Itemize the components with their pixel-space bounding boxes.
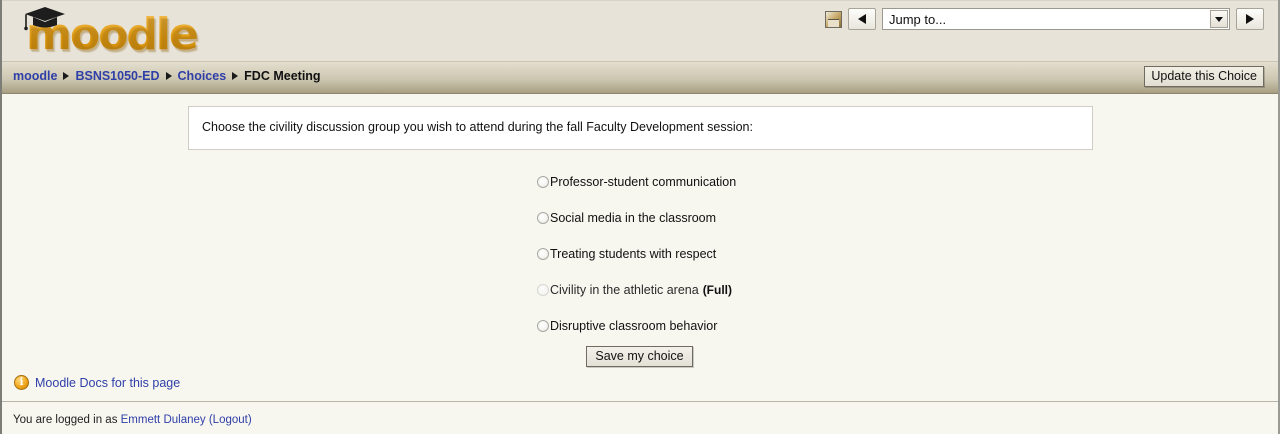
moodle-page: moodle Jump to... (0, 0, 1280, 434)
choice-options-list: Professor-student communication Social m… (2, 164, 1278, 367)
login-prefix: You are logged in as (13, 414, 121, 426)
login-status: You are logged in as Emmett Dulaney (Log… (13, 414, 252, 426)
option-label-2[interactable]: Social media in the classroom (550, 211, 716, 225)
choice-option-row: Civility in the athletic arena (Full) (2, 272, 1278, 308)
moodle-docs-link[interactable]: Moodle Docs for this page (35, 376, 180, 390)
page-header: moodle Jump to... (2, 0, 1278, 62)
chevron-left-icon (858, 14, 866, 24)
jump-to-value: Jump to... (883, 12, 946, 27)
chevron-down-icon (1215, 17, 1223, 22)
header-tools: Jump to... (825, 8, 1264, 30)
choice-option-row[interactable]: Disruptive classroom behavior (2, 308, 1278, 344)
navigation-bar: moodle BSNS1050-ED Choices FDC Meeting U… (2, 62, 1278, 94)
moodle-docs-link-row[interactable]: i Moodle Docs for this page (14, 375, 180, 390)
save-my-choice-button[interactable]: Save my choice (586, 346, 692, 367)
option-full-badge: (Full) (703, 283, 732, 297)
breadcrumb-separator-icon (232, 72, 238, 80)
radio-option-5[interactable] (537, 320, 549, 332)
window-frame-icon[interactable] (825, 11, 842, 28)
breadcrumb: moodle BSNS1050-ED Choices FDC Meeting (13, 69, 321, 83)
info-icon: i (14, 375, 29, 390)
user-profile-link[interactable]: Emmett Dulaney (121, 414, 206, 426)
breadcrumb-separator-icon (63, 72, 69, 80)
next-activity-button[interactable] (1236, 8, 1264, 30)
option-label-4: Civility in the athletic arena (550, 283, 699, 297)
choice-option-row[interactable]: Treating students with respect (2, 236, 1278, 272)
choice-intro-text: Choose the civility discussion group you… (189, 107, 1092, 134)
breadcrumb-separator-icon (166, 72, 172, 80)
choice-option-row[interactable]: Social media in the classroom (2, 200, 1278, 236)
breadcrumb-item-moodle[interactable]: moodle (13, 69, 57, 83)
main-content: Choose the civility discussion group you… (2, 94, 1278, 394)
previous-activity-button[interactable] (848, 8, 876, 30)
save-choice-row: Save my choice (2, 346, 1278, 367)
moodle-logo[interactable]: moodle (12, 3, 212, 59)
breadcrumb-item-course[interactable]: BSNS1050-ED (75, 69, 159, 83)
radio-option-2[interactable] (537, 212, 549, 224)
option-label-1[interactable]: Professor-student communication (550, 175, 736, 189)
breadcrumb-item-choices[interactable]: Choices (178, 69, 227, 83)
jump-to-dropdown-button[interactable] (1210, 10, 1228, 28)
logout-link[interactable]: (Logout) (206, 414, 252, 426)
update-this-choice-button[interactable]: Update this Choice (1144, 66, 1264, 87)
chevron-right-icon (1246, 14, 1254, 24)
moodle-logo-text: moodle (26, 9, 197, 60)
jump-to-select[interactable]: Jump to... (882, 8, 1230, 30)
footer-divider (2, 401, 1278, 402)
radio-option-3[interactable] (537, 248, 549, 260)
choice-intro-box: Choose the civility discussion group you… (188, 106, 1093, 150)
radio-option-4 (537, 284, 549, 296)
option-label-3[interactable]: Treating students with respect (550, 247, 716, 261)
option-label-5[interactable]: Disruptive classroom behavior (550, 319, 717, 333)
breadcrumb-item-current: FDC Meeting (244, 69, 320, 83)
radio-option-1[interactable] (537, 176, 549, 188)
choice-option-row[interactable]: Professor-student communication (2, 164, 1278, 200)
